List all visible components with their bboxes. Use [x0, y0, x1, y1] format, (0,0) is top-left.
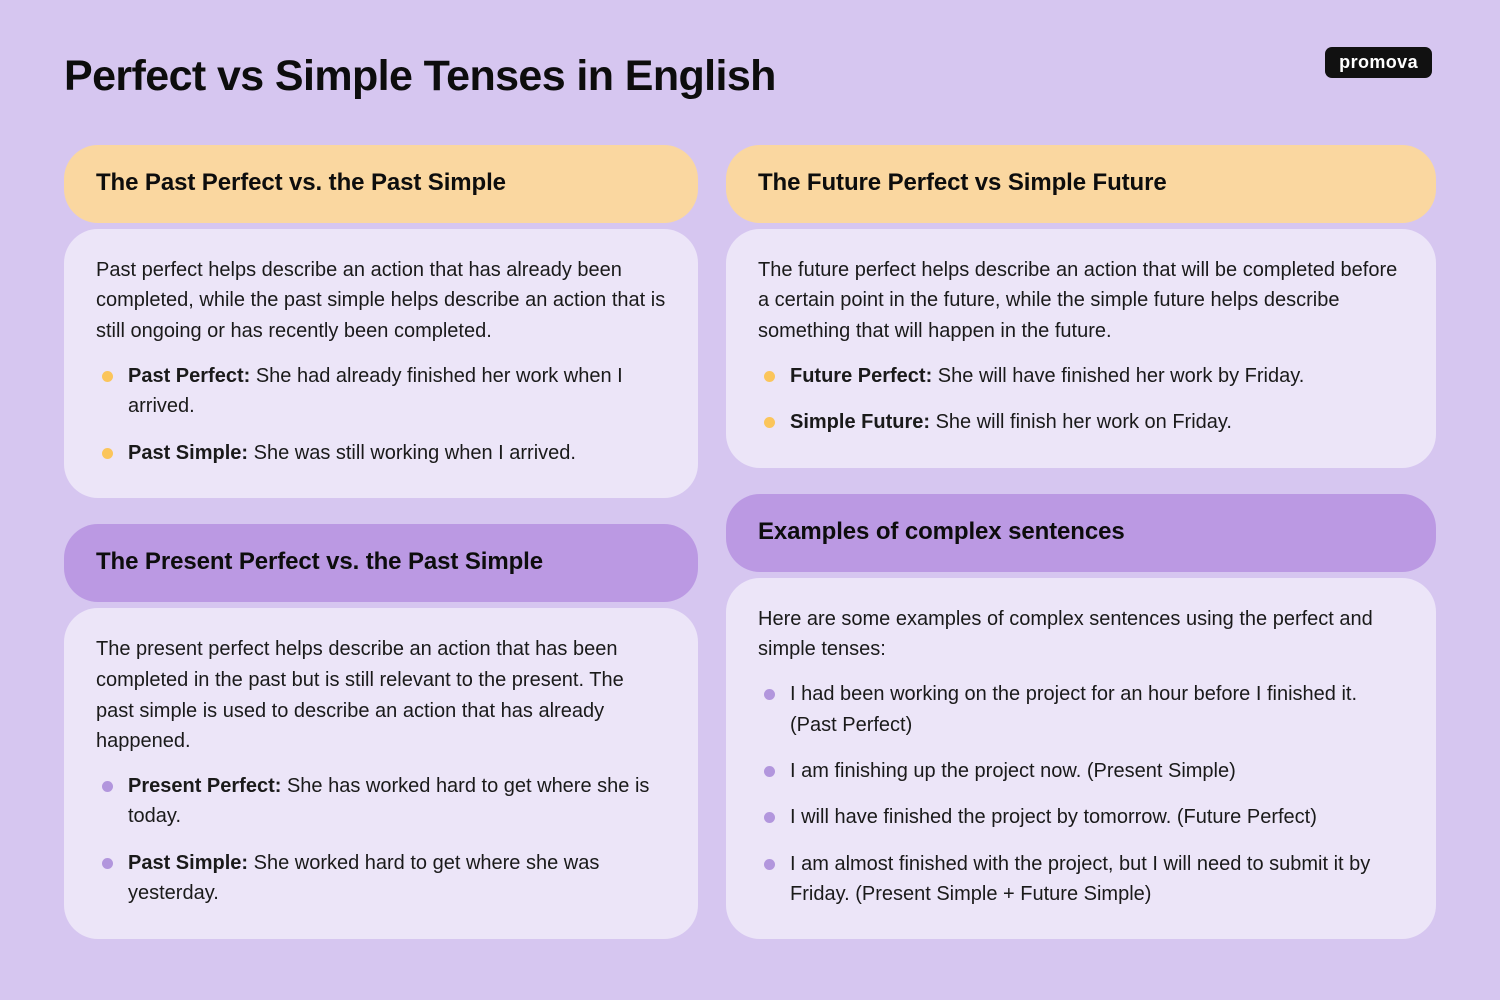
- card-body: Here are some examples of complex senten…: [726, 578, 1436, 940]
- list-item: Past Simple: She worked hard to get wher…: [96, 848, 666, 909]
- card-heading: The Present Perfect vs. the Past Simple: [64, 524, 698, 602]
- list-item: I am finishing up the project now. (Pres…: [758, 756, 1404, 786]
- bullet-dot-icon: [102, 448, 113, 459]
- list-item: Future Perfect: She will have finished h…: [758, 361, 1404, 391]
- infographic-page: Perfect vs Simple Tenses in English prom…: [0, 0, 1500, 1000]
- bullet-dot-icon: [102, 858, 113, 869]
- bullet-text: She will have finished her work by Frida…: [932, 365, 1304, 387]
- card-intro-text: Past perfect helps describe an action th…: [96, 255, 666, 347]
- bullet-text: She will finish her work on Friday.: [930, 411, 1232, 433]
- bullet-dot-icon: [764, 371, 775, 382]
- bullet-lead: Simple Future:: [790, 411, 930, 433]
- card-heading: Examples of complex sentences: [726, 494, 1436, 572]
- bullet-list: Present Perfect: She has worked hard to …: [96, 771, 666, 909]
- card-body: The present perfect helps describe an ac…: [64, 608, 698, 939]
- right-column: The Future Perfect vs Simple Future The …: [726, 145, 1436, 939]
- promova-logo: promova: [1325, 47, 1432, 78]
- bullet-lead: Past Simple:: [128, 442, 248, 464]
- list-item: Past Simple: She was still working when …: [96, 438, 666, 468]
- card-intro-text: Here are some examples of complex senten…: [758, 604, 1404, 666]
- card-future-perfect-vs-simple-future: The Future Perfect vs Simple Future The …: [726, 145, 1436, 468]
- list-item: Present Perfect: She has worked hard to …: [96, 771, 666, 832]
- list-item: I will have finished the project by tomo…: [758, 802, 1404, 832]
- page-header: Perfect vs Simple Tenses in English prom…: [0, 0, 1500, 132]
- bullet-dot-icon: [764, 766, 775, 777]
- list-item: I am almost finished with the project, b…: [758, 849, 1404, 910]
- card-examples-of-complex-sentences: Examples of complex sentences Here are s…: [726, 494, 1436, 940]
- list-item: Simple Future: She will finish her work …: [758, 407, 1404, 437]
- bullet-text: I am almost finished with the project, b…: [790, 853, 1370, 905]
- card-heading: The Past Perfect vs. the Past Simple: [64, 145, 698, 223]
- bullet-dot-icon: [764, 689, 775, 700]
- bullet-dot-icon: [102, 371, 113, 382]
- card-past-perfect-vs-past-simple: The Past Perfect vs. the Past Simple Pas…: [64, 145, 698, 498]
- bullet-text: I am finishing up the project now. (Pres…: [790, 760, 1236, 782]
- content-columns: The Past Perfect vs. the Past Simple Pas…: [64, 145, 1436, 939]
- bullet-dot-icon: [764, 417, 775, 428]
- page-title: Perfect vs Simple Tenses in English: [64, 52, 776, 101]
- card-heading: The Future Perfect vs Simple Future: [726, 145, 1436, 223]
- card-intro-text: The present perfect helps describe an ac…: [96, 634, 666, 757]
- list-item: I had been working on the project for an…: [758, 679, 1404, 740]
- card-intro-text: The future perfect helps describe an act…: [758, 255, 1404, 347]
- left-column: The Past Perfect vs. the Past Simple Pas…: [64, 145, 698, 939]
- card-body: Past perfect helps describe an action th…: [64, 229, 698, 499]
- card-present-perfect-vs-past-simple: The Present Perfect vs. the Past Simple …: [64, 524, 698, 938]
- bullet-dot-icon: [764, 859, 775, 870]
- bullet-lead: Present Perfect:: [128, 775, 281, 797]
- bullet-lead: Future Perfect:: [790, 365, 932, 387]
- bullet-text: She was still working when I arrived.: [248, 442, 576, 464]
- bullet-lead: Past Simple:: [128, 852, 248, 874]
- card-body: The future perfect helps describe an act…: [726, 229, 1436, 468]
- list-item: Past Perfect: She had already finished h…: [96, 361, 666, 422]
- bullet-list: Past Perfect: She had already finished h…: [96, 361, 666, 468]
- bullet-dot-icon: [102, 781, 113, 792]
- bullet-lead: Past Perfect:: [128, 365, 250, 387]
- bullet-text: I had been working on the project for an…: [790, 683, 1357, 735]
- bullet-dot-icon: [764, 812, 775, 823]
- bullet-list: I had been working on the project for an…: [758, 679, 1404, 909]
- bullet-text: I will have finished the project by tomo…: [790, 806, 1317, 828]
- bullet-list: Future Perfect: She will have finished h…: [758, 361, 1404, 438]
